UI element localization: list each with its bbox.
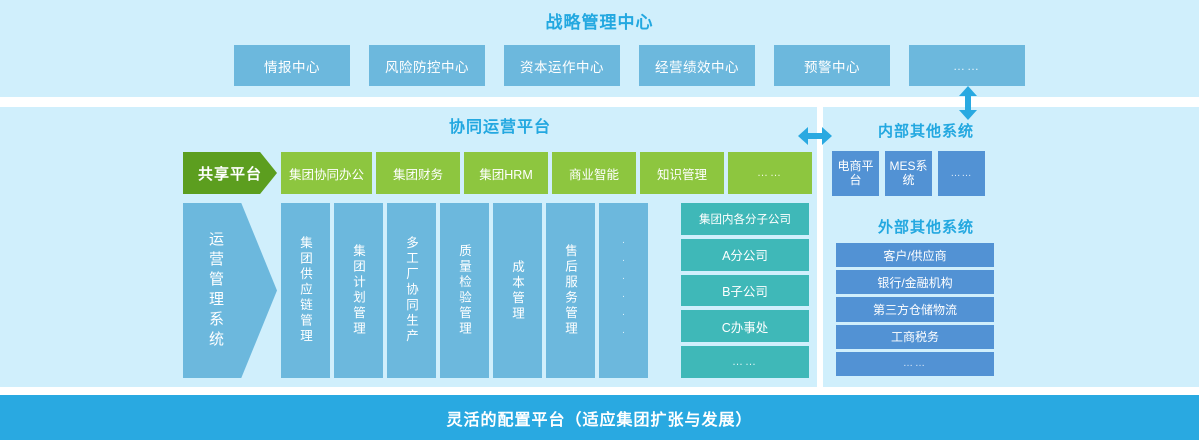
strategy-management-band: 战略管理中心 情报中心 风险防控中心 资本运作中心 经营绩效中心 预警中心 …… [0, 0, 1199, 97]
footer-band: 灵活的配置平台（适应集团扩张与发展） [0, 395, 1199, 440]
green-cell-group-hrm[interactable]: 集团HRM [464, 152, 548, 194]
module-col-quality-inspection[interactable]: 质量检验管理 [440, 203, 489, 378]
strategy-cell-row: 情报中心 风险防控中心 资本运作中心 经营绩效中心 预警中心 …… [234, 45, 1025, 86]
external-systems-column: 客户/供应商 银行/金融机构 第三方仓储物流 工商税务 …… [836, 243, 994, 376]
internal-systems-title: 内部其他系统 [826, 120, 1026, 141]
module-col-supply-chain[interactable]: 集团供应链管理 [281, 203, 330, 378]
external-cell-more[interactable]: …… [836, 352, 994, 376]
module-label: 成本管理 [508, 260, 527, 322]
module-label: 集团供应链管理 [296, 236, 315, 345]
strategy-cell-capital-operation[interactable]: 资本运作中心 [504, 45, 620, 86]
collaboration-platform-title: 协同运营平台 [180, 113, 820, 137]
module-col-cost-management[interactable]: 成本管理 [493, 203, 542, 378]
internal-cell-more[interactable]: …… [938, 151, 985, 196]
strategy-cell-risk-control[interactable]: 风险防控中心 [369, 45, 485, 86]
subsidiary-column: 集团内各分子公司 A分公司 B子公司 C办事处 …… [681, 203, 809, 378]
internal-systems-row: 电商平台 MES系统 …… [832, 151, 985, 196]
operations-management-system-label: 运营管理系统 [205, 231, 226, 351]
module-label: 售后服务管理 [561, 244, 580, 337]
external-cell-bank-financial[interactable]: 银行/金融机构 [836, 270, 994, 294]
double-arrow-vertical-icon [957, 86, 979, 120]
green-cell-group-office[interactable]: 集团协同办公 [281, 152, 372, 194]
module-label: 集团计划管理 [349, 244, 368, 337]
middle-band-divider [817, 107, 823, 387]
external-cell-third-party-logistics[interactable]: 第三方仓储物流 [836, 297, 994, 321]
module-label: 多工厂协同生产 [402, 236, 421, 345]
strategy-cell-business-performance[interactable]: 经营绩效中心 [639, 45, 755, 86]
module-col-more[interactable]: ······ [599, 203, 648, 378]
external-cell-customer-supplier[interactable]: 客户/供应商 [836, 243, 994, 267]
module-col-multi-plant-production[interactable]: 多工厂协同生产 [387, 203, 436, 378]
green-cell-more[interactable]: …… [728, 152, 812, 194]
internal-cell-ecommerce-platform[interactable]: 电商平台 [832, 151, 879, 196]
footer-text: 灵活的配置平台（适应集团扩张与发展） [446, 406, 752, 430]
subsidiary-cell-more[interactable]: …… [681, 346, 809, 378]
strategy-cell-more[interactable]: …… [909, 45, 1025, 86]
module-column-row: 集团供应链管理 集团计划管理 多工厂协同生产 质量检验管理 成本管理 售后服务管… [281, 203, 648, 378]
shared-platform-row: 共享平台 集团协同办公 集团财务 集团HRM 商业智能 知识管理 …… [183, 152, 812, 194]
module-label: ······ [618, 237, 629, 345]
external-cell-tax-commerce[interactable]: 工商税务 [836, 325, 994, 349]
module-col-group-planning[interactable]: 集团计划管理 [334, 203, 383, 378]
internal-cell-mes-system[interactable]: MES系统 [885, 151, 932, 196]
green-cell-knowledge-management[interactable]: 知识管理 [640, 152, 724, 194]
strategy-cell-intelligence[interactable]: 情报中心 [234, 45, 350, 86]
module-label: 质量检验管理 [455, 244, 474, 337]
green-cell-business-intelligence[interactable]: 商业智能 [552, 152, 636, 194]
subsidiary-cell-office-c[interactable]: C办事处 [681, 310, 809, 342]
strategy-band-title: 战略管理中心 [0, 8, 1199, 33]
strategy-cell-early-warning[interactable]: 预警中心 [774, 45, 890, 86]
green-cell-group-finance[interactable]: 集团财务 [376, 152, 460, 194]
shared-platform-chevron[interactable]: 共享平台 [183, 152, 277, 194]
subsidiary-cell-subsidiary-b[interactable]: B子公司 [681, 275, 809, 307]
double-arrow-horizontal-icon [798, 125, 832, 147]
subsidiary-cell-all[interactable]: 集团内各分子公司 [681, 203, 809, 235]
external-systems-title: 外部其他系统 [826, 216, 1026, 237]
module-col-after-sales-service[interactable]: 售后服务管理 [546, 203, 595, 378]
subsidiary-cell-branch-a[interactable]: A分公司 [681, 239, 809, 271]
